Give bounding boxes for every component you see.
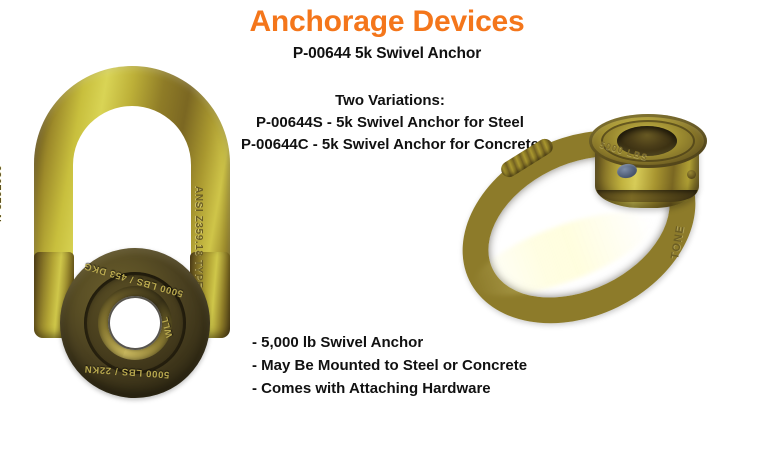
- page-subtitle: P-00644 5k Swivel Anchor: [0, 45, 774, 63]
- swivel-barrel-seam: [597, 190, 697, 202]
- product-photo-front: N-8292050 ANSI Z359.18 TYPE A 5000 LBS /…: [18, 66, 248, 388]
- swivel-disc: 5000 LBS / 453 DKG 5000 LBS / 22KN WLL: [60, 248, 210, 398]
- part-number-stamp: N-8292050: [0, 165, 4, 222]
- page-title: Anchorage Devices: [0, 6, 774, 38]
- feature-list: - 5,000 lb Swivel Anchor - May Be Mounte…: [252, 332, 527, 400]
- feature-item-mounting: - May Be Mounted to Steel or Concrete: [252, 355, 527, 378]
- swivel-disc-hole: [108, 296, 162, 350]
- swivel-retaining-pin: [687, 170, 696, 179]
- product-slide: Anchorage Devices P-00644 5k Swivel Anch…: [0, 0, 774, 452]
- feature-item-hardware: - Comes with Attaching Hardware: [252, 378, 527, 401]
- product-photo-angled: TONE 5000 LBS: [455, 108, 765, 336]
- swivel-barrel: 5000 LBS: [587, 108, 709, 212]
